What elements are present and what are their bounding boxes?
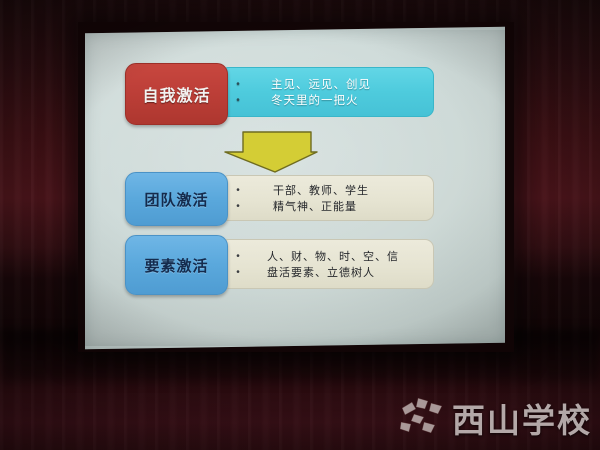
screenshot-stage: • 主见、远见、创见 • 冬天里的一把火 自我激活	[0, 0, 600, 450]
vignette-overlay	[0, 0, 600, 450]
xishan-school-logo-icon	[400, 396, 446, 441]
watermark-text: 西山学校	[452, 394, 592, 442]
watermark: 西山学校	[400, 394, 592, 442]
